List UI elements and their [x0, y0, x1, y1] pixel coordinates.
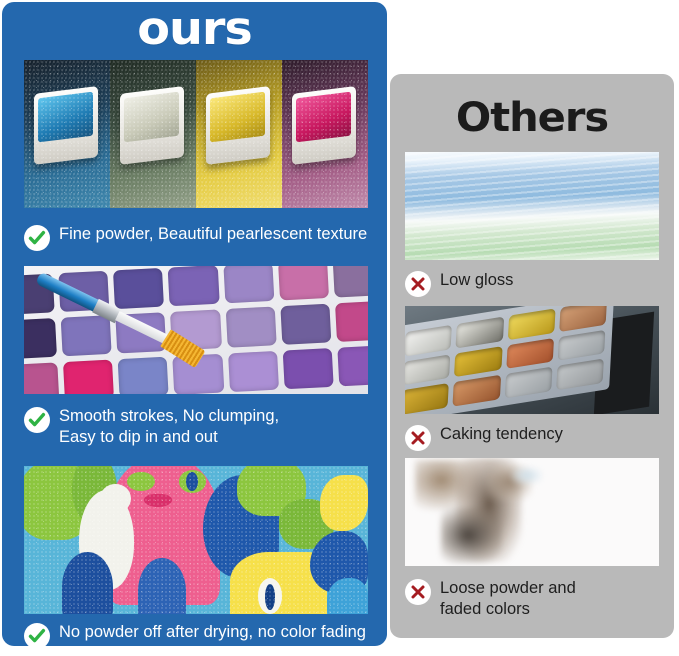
- others-feature-image-3: [405, 458, 659, 566]
- others-bullet-1: Low gloss: [405, 270, 513, 297]
- flake-well: [453, 375, 501, 407]
- flake-well: [559, 306, 607, 332]
- flake-well: [556, 359, 604, 391]
- ours-feature-image-3: [24, 466, 368, 614]
- x-icon: [405, 579, 431, 605]
- glitter-grain-overlay: [24, 60, 368, 208]
- others-bullet-2-label: Caking tendency: [440, 424, 563, 445]
- flake-well: [507, 309, 555, 341]
- palette-swatch: [337, 345, 368, 386]
- palette-swatch: [225, 306, 276, 347]
- ours-title: ours: [0, 4, 399, 54]
- glitter-artwork: [24, 466, 368, 614]
- palette-swatch: [168, 266, 219, 306]
- x-icon: [405, 271, 431, 297]
- ours-bullet-2-label: Smooth strokes, No clumping, Easy to dip…: [59, 406, 279, 448]
- ours-bullet-3: No powder off after drying, no color fad…: [24, 622, 366, 649]
- flake-well: [558, 330, 606, 362]
- palette-swatch: [61, 315, 112, 356]
- paint-smudge: [441, 507, 502, 563]
- others-title: Others: [384, 96, 679, 140]
- ours-bullet-1-label: Fine powder, Beautiful pearlescent textu…: [59, 224, 367, 245]
- others-feature-image-1: [405, 152, 659, 260]
- flake-well: [506, 338, 554, 370]
- others-bullet-2: Caking tendency: [405, 424, 563, 451]
- x-icon: [405, 425, 431, 451]
- others-feature-image-2: [405, 306, 659, 414]
- flake-paint-tray: [405, 306, 659, 414]
- flake-well: [405, 354, 451, 386]
- watercolour-palette: [24, 266, 368, 394]
- palette-swatch: [278, 266, 329, 300]
- palette-swatch: [223, 266, 274, 303]
- wash-streaks: [405, 152, 659, 260]
- palette-swatch: [63, 360, 114, 394]
- check-icon: [24, 225, 50, 251]
- faded-painting: [405, 458, 659, 566]
- flake-well: [454, 346, 502, 378]
- check-icon: [24, 407, 50, 433]
- ours-feature-image-2: [24, 266, 368, 394]
- flake-well: [504, 367, 552, 399]
- palette-swatch: [113, 268, 164, 309]
- palette-swatch: [282, 348, 333, 389]
- others-bullet-3-label: Loose powder and faded colors: [440, 578, 576, 620]
- comparison-infographic: ours: [0, 0, 679, 656]
- ours-feature-image-1: [24, 60, 368, 208]
- ours-bullet-2: Smooth strokes, No clumping, Easy to dip…: [24, 406, 279, 448]
- palette-swatch: [24, 362, 59, 394]
- palette-swatch: [280, 304, 331, 345]
- palette-swatch: [228, 351, 279, 392]
- flake-well: [405, 384, 449, 414]
- palette-swatch: [24, 318, 57, 359]
- flake-well: [456, 317, 504, 349]
- watercolour-wash: [405, 152, 659, 260]
- tray-wells: [405, 306, 614, 414]
- ours-bullet-1: Fine powder, Beautiful pearlescent textu…: [24, 224, 367, 251]
- palette-swatch: [335, 301, 368, 342]
- paint-smudge: [512, 467, 542, 484]
- others-panel: Others: [390, 74, 674, 638]
- others-bullet-1-label: Low gloss: [440, 270, 513, 291]
- ours-panel: ours: [2, 2, 387, 646]
- glitter-grain-overlay: [24, 466, 368, 614]
- check-icon: [24, 623, 50, 649]
- flake-well: [405, 325, 452, 357]
- palette-swatch: [333, 266, 368, 298]
- palette-swatch: [118, 357, 169, 394]
- ours-bullet-3-label: No powder off after drying, no color fad…: [59, 622, 366, 643]
- others-bullet-3: Loose powder and faded colors: [405, 578, 576, 620]
